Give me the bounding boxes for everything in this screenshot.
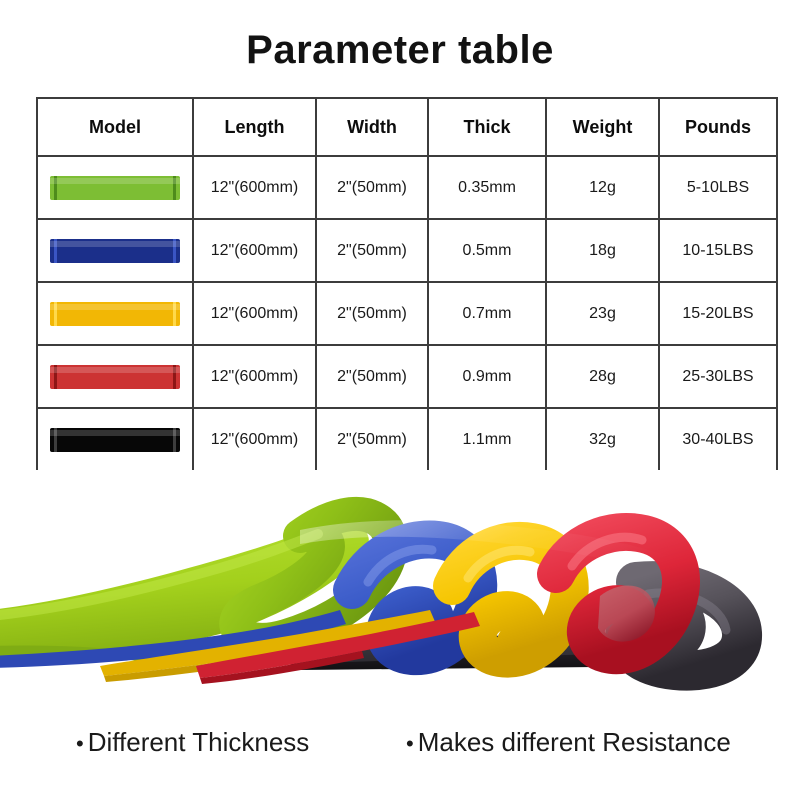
page-title: Parameter table [0,28,800,72]
thick-cell: 0.5mm [428,219,546,282]
caption-text: Makes different Resistance [418,727,731,757]
red-band-swatch [50,365,180,389]
weight-cell: 32g [546,408,659,471]
width-cell: 2"(50mm) [316,282,428,345]
green-band-swatch [50,176,180,200]
length-cell: 12"(600mm) [193,156,316,219]
model-cell [37,345,193,408]
length-cell: 12"(600mm) [193,408,316,471]
width-cell: 2"(50mm) [316,156,428,219]
model-cell [37,156,193,219]
parameter-table-container: Model Length Width Thick Weight Pounds 1… [36,97,776,472]
product-photo [0,470,800,705]
thick-cell: 0.9mm [428,345,546,408]
model-cell [37,408,193,471]
thick-cell: 1.1mm [428,408,546,471]
thick-cell: 0.35mm [428,156,546,219]
table-row: 12"(600mm) 2"(50mm) 0.5mm 18g 10-15LBS [37,219,777,282]
blue-band-swatch [50,239,180,263]
pounds-cell: 25-30LBS [659,345,777,408]
width-cell: 2"(50mm) [316,345,428,408]
column-header-thick: Thick [428,98,546,156]
pounds-cell: 30-40LBS [659,408,777,471]
caption-text: Different Thickness [88,727,310,757]
parameter-table: Model Length Width Thick Weight Pounds 1… [36,97,778,472]
swatch-gloss [50,178,180,184]
bullet-icon: • [76,731,84,756]
table-row: 12"(600mm) 2"(50mm) 0.9mm 28g 25-30LBS [37,345,777,408]
model-cell [37,219,193,282]
weight-cell: 18g [546,219,659,282]
table-row: 12"(600mm) 2"(50mm) 1.1mm 32g 30-40LBS [37,408,777,471]
weight-cell: 28g [546,345,659,408]
swatch-gloss [50,241,180,247]
pounds-cell: 5-10LBS [659,156,777,219]
caption-different-thickness: •Different Thickness [76,728,309,757]
length-cell: 12"(600mm) [193,345,316,408]
model-cell [37,282,193,345]
table-header-row: Model Length Width Thick Weight Pounds [37,98,777,156]
width-cell: 2"(50mm) [316,408,428,471]
bullet-icon: • [406,731,414,756]
table-row: 12"(600mm) 2"(50mm) 0.35mm 12g 5-10LBS [37,156,777,219]
column-header-pounds: Pounds [659,98,777,156]
pounds-cell: 10-15LBS [659,219,777,282]
column-header-weight: Weight [546,98,659,156]
column-header-length: Length [193,98,316,156]
column-header-model: Model [37,98,193,156]
thick-cell: 0.7mm [428,282,546,345]
black-band-swatch [50,428,180,452]
column-header-width: Width [316,98,428,156]
caption-makes-different-resistance: •Makes different Resistance [406,728,731,757]
weight-cell: 12g [546,156,659,219]
pounds-cell: 15-20LBS [659,282,777,345]
resistance-bands-illustration [0,470,800,705]
swatch-gloss [50,367,180,373]
swatch-gloss [50,304,180,310]
length-cell: 12"(600mm) [193,219,316,282]
caption-row: •Different Thickness •Makes different Re… [0,722,800,768]
length-cell: 12"(600mm) [193,282,316,345]
weight-cell: 23g [546,282,659,345]
table-row: 12"(600mm) 2"(50mm) 0.7mm 23g 15-20LBS [37,282,777,345]
yellow-band-swatch [50,302,180,326]
swatch-gloss [50,430,180,436]
width-cell: 2"(50mm) [316,219,428,282]
